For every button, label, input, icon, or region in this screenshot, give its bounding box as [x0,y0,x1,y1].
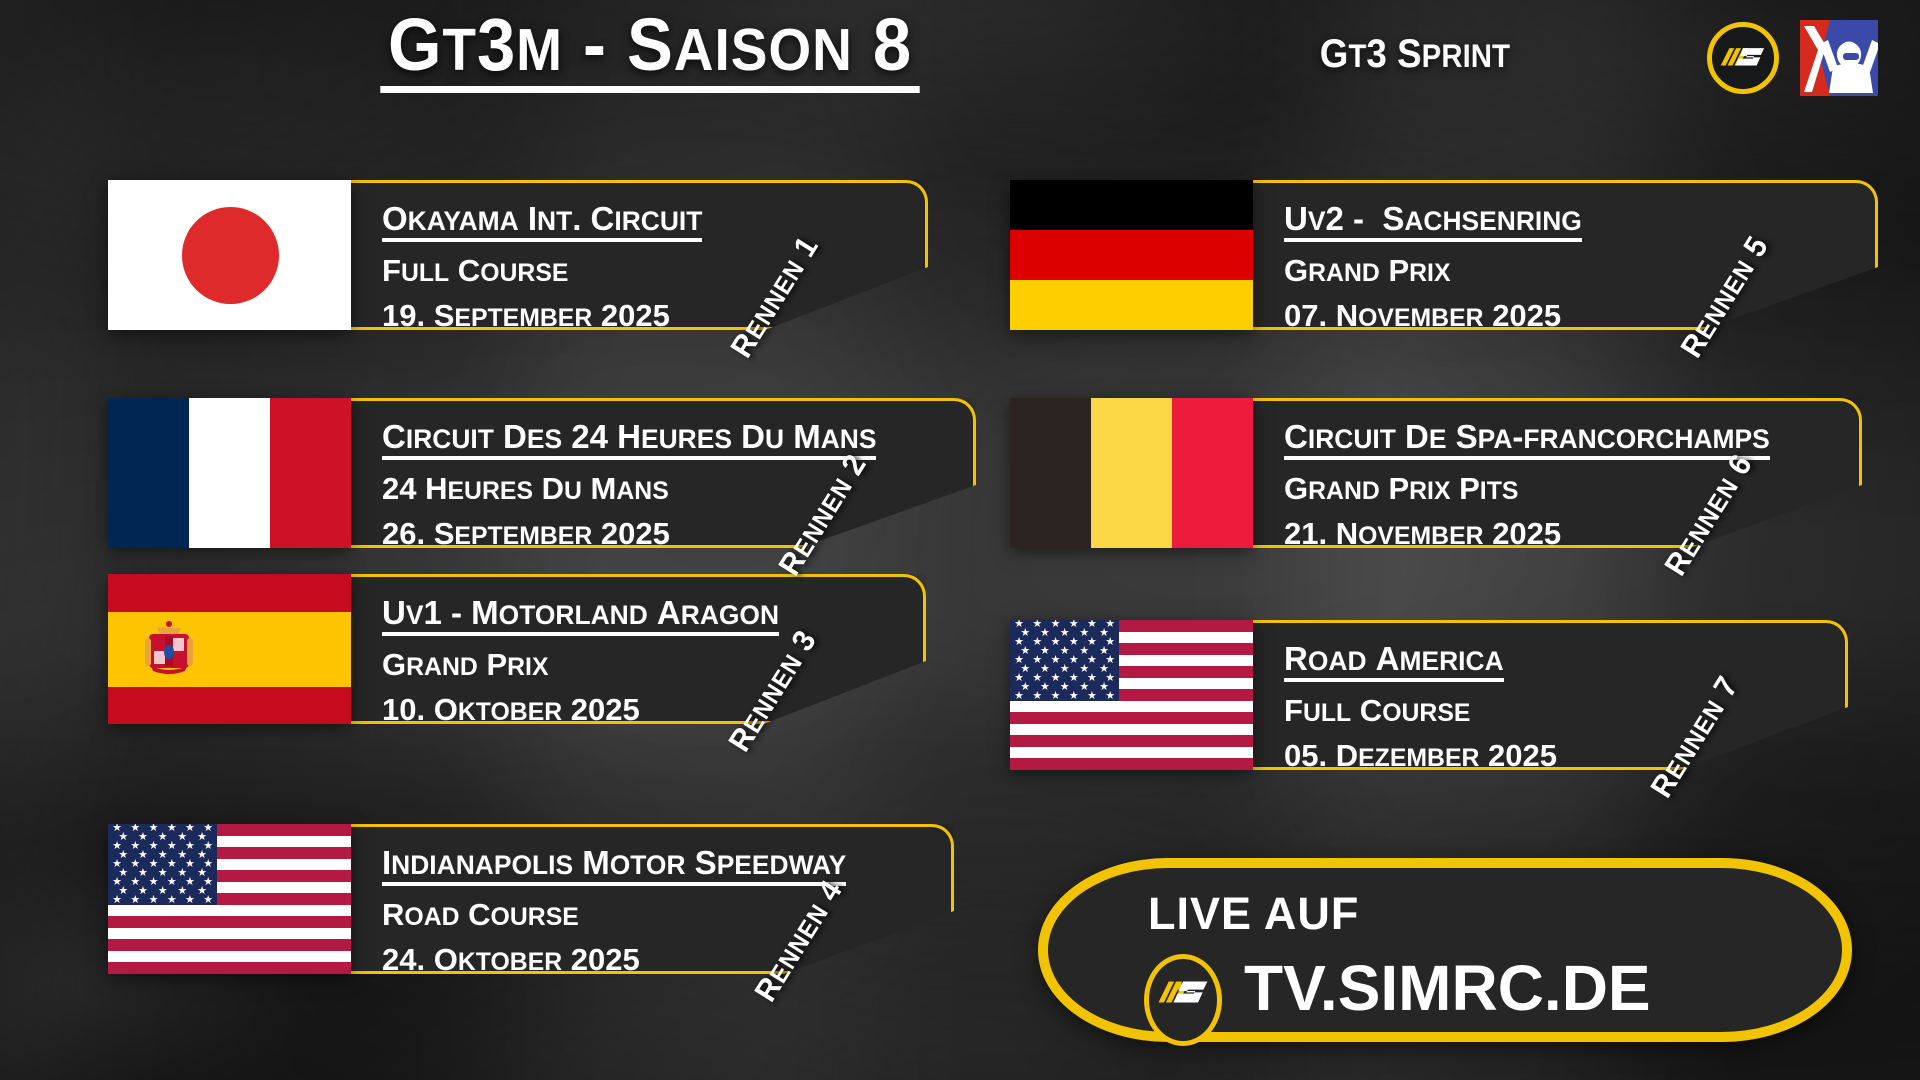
series-subtitle: GT3 SPRINT [1124,32,1510,77]
race-info-panel: UV1 - MOTORLAND ARAGON GRAND PRIX 10. OK… [346,574,926,724]
flag-band-black [1010,398,1091,548]
flag-band-red [1172,398,1253,548]
flag-band-white [189,398,270,548]
star-icon: ★ [1087,691,1097,701]
circuit-name: OKAYAMA INT. CIRCUIT [382,202,702,242]
flag-band-red-bottom [108,687,351,725]
star-icon: ★ [1069,673,1079,684]
spain-flag [108,574,351,724]
star-row: ★★★★★ [1010,683,1119,692]
layout-name: 24 HEURES DU MANS [382,473,876,505]
header: GT3M - SAISON 8 GT3 SPRINT [0,0,1920,130]
star-row: ★★★★★ [108,833,217,842]
calendar-graphic: GT3M - SAISON 8 GT3 SPRINT [0,0,1920,1080]
star-icon: ★ [1069,637,1079,648]
race-info-panel: CIRCUIT DES 24 HEURES DU MANS 24 HEURES … [346,398,976,548]
flag-band-yellow [1091,398,1172,548]
race-date: 05. DEZEMBER 2025 [1284,740,1557,772]
usa-flag: ★★★★★★★★★★★★★★★★★★★★★★★★★★★★★★★★★★★★★★★★… [108,824,351,974]
race-date: 19. SEPTEMBER 2025 [382,300,702,332]
layout-name: GRAND PRIX [382,649,779,681]
belgium-flag [1010,398,1253,548]
star-row: ★★★★★ [108,887,217,896]
germany-flag [1010,180,1253,330]
layout-name: FULL COURSE [382,255,702,287]
star-icon: ★ [167,895,177,905]
star-row: ★★★★★ [108,851,217,860]
flag-sun [182,207,279,304]
star-icon: ★ [185,895,195,905]
simrc-logo [1707,22,1779,94]
driver-logo [1800,20,1878,96]
race-card[interactable]: CIRCUIT DES 24 HEURES DU MANS 24 HEURES … [108,398,968,548]
spain-coat-of-arms-icon [143,618,195,680]
layout-name: GRAND PRIX [1284,255,1582,287]
race-date: 10. OKTOBER 2025 [382,694,779,726]
race-card[interactable]: UV1 - MOTORLAND ARAGON GRAND PRIX 10. OK… [108,574,938,724]
race-card[interactable]: ★★★★★★★★★★★★★★★★★★★★★★★★★★★★★★★★★★★★★★★★… [1010,620,1850,770]
simrc-s-icon [1712,27,1774,89]
driver-figure-icon [1800,20,1878,96]
race-info-panel: OKAYAMA INT. CIRCUIT FULL COURSE 19. SEP… [346,180,928,330]
usa-flag: ★★★★★★★★★★★★★★★★★★★★★★★★★★★★★★★★★★★★★★★★… [1010,620,1253,770]
star-icon: ★ [203,895,213,905]
star-icon: ★ [167,841,177,852]
flag-stripe [1010,747,1253,759]
star-icon: ★ [1069,620,1079,630]
france-flag [108,398,351,548]
star-icon: ★ [112,895,122,905]
circuit-name: UV2 - SACHSENRING [1284,202,1582,242]
circuit-name: CIRCUIT DE SPA-FRANCORCHAMPS [1284,420,1770,460]
star-row: ★★★★★ [108,869,217,878]
layout-name: FULL COURSE [1284,695,1557,727]
simrc-logo [1144,954,1222,1046]
star-icon: ★ [1105,691,1115,701]
circuit-name: INDIANAPOLIS MOTOR SPEEDWAY [382,846,846,886]
star-icon: ★ [1069,655,1079,666]
flag-band-red [270,398,351,548]
star-icon: ★ [149,895,159,905]
circuit-name: ROAD AMERICA [1284,642,1504,682]
page-title: GT3M - SAISON 8 [46,8,1255,93]
star-icon: ★ [1051,691,1061,701]
flag-stripe [108,951,351,963]
japan-flag [108,180,351,330]
flag-stripe [108,928,351,940]
flag-stripe [1010,724,1253,736]
race-card[interactable]: UV2 - SACHSENRING GRAND PRIX 07. NOVEMBE… [1010,180,1868,330]
flag-band-red [1010,230,1253,280]
live-stream-banner[interactable]: LIVE AUF TV.SIMRC.DE [1038,858,1852,1042]
race-card[interactable]: CIRCUIT DE SPA-FRANCORCHAMPS GRAND PRIX … [1010,398,1850,548]
flag-band-red-top [108,574,351,612]
star-icon: ★ [167,877,177,888]
flag-stripe [108,905,351,917]
star-row: ★★★★★★ [1010,692,1119,701]
flag-band-gold [1010,280,1253,330]
race-info-panel: ROAD AMERICA FULL COURSE 05. DEZEMBER 20… [1248,620,1848,770]
race-card[interactable]: OKAYAMA INT. CIRCUIT FULL COURSE 19. SEP… [108,180,928,330]
star-row: ★★★★★ [1010,629,1119,638]
star-row: ★★★★★ [1010,665,1119,674]
flag-stripe [1010,701,1253,713]
circuit-name: CIRCUIT DES 24 HEURES DU MANS [382,420,876,460]
race-info-panel: INDIANAPOLIS MOTOR SPEEDWAY ROAD COURSE … [346,824,954,974]
star-row: ★★★★★★ [108,896,217,905]
race-info-panel: UV2 - SACHSENRING GRAND PRIX 07. NOVEMBE… [1248,180,1878,330]
flag-band-yellow [108,612,351,687]
flag-band-blue [108,398,189,548]
race-info-panel: CIRCUIT DE SPA-FRANCORCHAMPS GRAND PRIX … [1248,398,1862,548]
star-row: ★★★★★ [1010,647,1119,656]
stream-url: TV.SIMRC.DE [1244,956,1651,1020]
race-card[interactable]: ★★★★★★★★★★★★★★★★★★★★★★★★★★★★★★★★★★★★★★★★… [108,824,958,974]
star-icon: ★ [167,859,177,870]
star-icon: ★ [130,895,140,905]
star-icon: ★ [1069,691,1079,701]
circuit-name: UV1 - MOTORLAND ARAGON [382,596,779,636]
flag-band-black [1010,180,1253,230]
live-label: LIVE AUF [1148,888,1359,940]
flag-canton: ★★★★★★★★★★★★★★★★★★★★★★★★★★★★★★★★★★★★★★★★… [108,824,217,905]
star-icon: ★ [1014,691,1024,701]
simrc-s-icon [1149,959,1217,1027]
race-date: 07. NOVEMBER 2025 [1284,300,1582,332]
star-icon: ★ [1032,691,1042,701]
flag-canton: ★★★★★★★★★★★★★★★★★★★★★★★★★★★★★★★★★★★★★★★★… [1010,620,1119,701]
layout-name: ROAD COURSE [382,899,846,931]
star-icon: ★ [167,824,177,834]
